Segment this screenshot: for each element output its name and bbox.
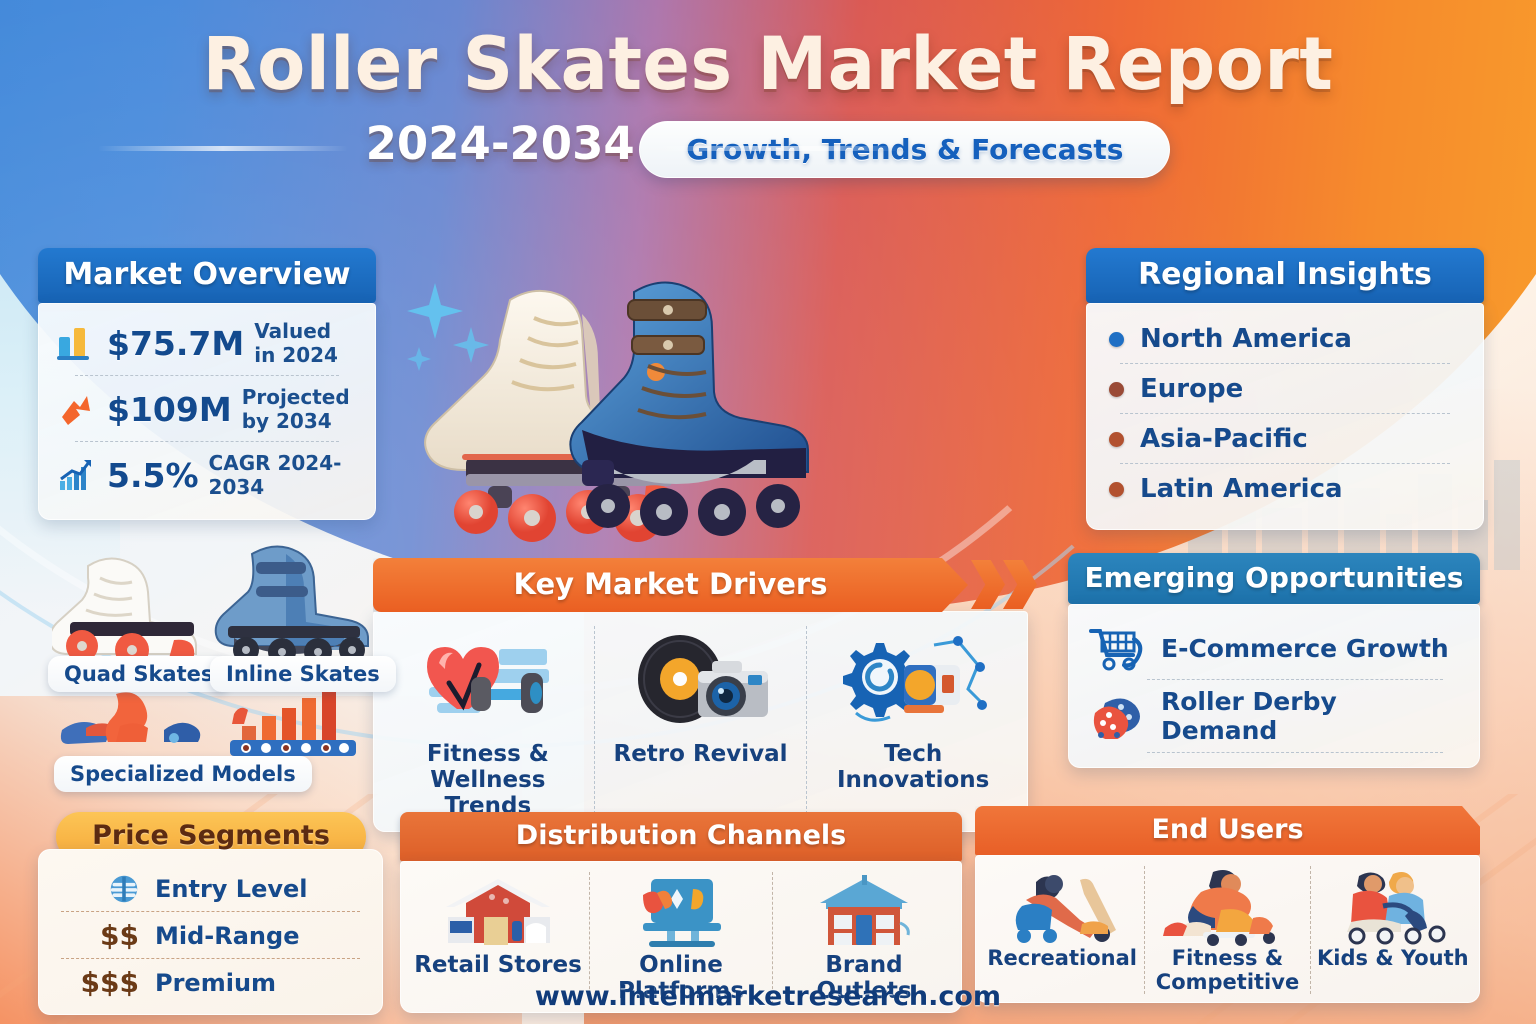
list-item[interactable]: Asia-Pacific [1109,414,1461,463]
specialized-chart-image [218,682,368,762]
growth-chart-icon [55,456,97,494]
bullet-dot-icon [1109,332,1124,347]
price-label: Mid-Range [155,922,299,950]
list-item[interactable]: North America [1109,314,1461,363]
product-chip-inline-skates[interactable]: Inline Skates [210,656,396,692]
market-overview-row: $75.7M Valued in 2024 [53,310,361,375]
market-value-2024-label: Valued in 2024 [254,319,359,367]
channel-label: Retail Stores [411,952,585,978]
bullet-dot-icon [1109,432,1124,447]
market-value-2034: $109M [107,390,232,429]
bullet-dot-icon [1109,482,1124,497]
region-label: Asia-Pacific [1140,424,1308,454]
distribution-channels-heading: Distribution Channels [400,812,962,861]
vinyl-camera-icon [601,626,801,736]
kids-skater-icon [1314,866,1472,946]
market-overview-card: Market Overview $75.7M Valued in 2024 $1… [38,248,376,520]
quad-skate-image [52,548,212,668]
page-title: Roller Skates Market Report [31,22,1506,107]
list-item[interactable]: Entry Level [55,868,366,908]
end-users-heading: End Users [975,806,1480,855]
driver-label: Fitness & Wellness Trends [388,742,588,819]
year-rule-left [98,146,348,151]
driver-item-fitness[interactable]: Fitness & Wellness Trends [382,626,594,819]
specialized-models-image [58,686,208,758]
divider [61,911,360,912]
market-overview-body: $75.7M Valued in 2024 $109M Projected by… [38,303,376,520]
key-drivers-body: Fitness & Wellness Trends [373,611,1028,832]
list-item[interactable]: Latin America [1109,464,1461,513]
list-item[interactable]: Roller Derby Demand [1089,680,1459,752]
bar-chart-icon [55,324,97,362]
storefront-icon [411,872,585,950]
driver-label: Retro Revival [601,742,801,768]
coin-icon [55,872,139,905]
title-years: 2024-2034 [366,117,635,170]
key-drivers-header-wrap: Key Market Drivers [373,558,1028,611]
inline-skate-image [212,540,380,668]
region-label: North America [1140,324,1352,354]
list-item[interactable]: Europe [1109,364,1461,413]
market-cagr: 5.5% [107,456,199,495]
divider [61,958,360,959]
regional-insights-body: North America Europe Asia-Pacific Latin … [1086,303,1484,530]
key-market-drivers-card: Key Market Drivers Fitness & Wellness T [373,558,1028,832]
chevron-right-icon [971,560,1005,609]
driver-label: Tech Innovations [813,742,1013,794]
driver-item-tech[interactable]: Tech Innovations [806,626,1019,819]
driver-item-retro[interactable]: Retro Revival [594,626,807,819]
footer-url[interactable]: www.intelmarketresearch.com [0,981,1536,1012]
divider [1147,752,1443,753]
product-chip-specialized-models[interactable]: Specialized Models [54,756,312,792]
up-arrow-icon [55,390,97,428]
region-label: Latin America [1140,474,1343,504]
end-user-item-kids[interactable]: Kids & Youth [1310,866,1475,994]
bullet-dot-icon [1109,382,1124,397]
recreational-skater-icon [983,866,1141,946]
market-value-2024: $75.7M [107,324,244,363]
end-user-label: Kids & Youth [1314,946,1472,970]
end-user-item-recreational[interactable]: Recreational [980,866,1144,994]
end-user-item-competitive[interactable]: Fitness & Competitive [1144,866,1309,994]
end-user-label: Recreational [983,946,1141,970]
market-overview-row: 5.5% CAGR 2024-2034 [53,442,361,507]
end-users-card: End Users Recreational [975,806,1480,1003]
emerging-opportunities-heading: Emerging Opportunities [1068,553,1480,604]
emerging-opportunities-card: Emerging Opportunities E-Commerce Growth [1068,553,1480,768]
market-overview-heading: Market Overview [38,248,376,303]
year-rule-right [653,146,903,151]
market-value-2034-label: Projected by 2034 [242,385,359,433]
market-cagr-label: CAGR 2024-2034 [209,451,359,499]
regional-insights-card: Regional Insights North America Europe A… [1086,248,1484,530]
opportunity-label: Roller Derby Demand [1161,687,1459,745]
derby-helmet-icon [1089,692,1143,740]
product-chip-quad-skates[interactable]: Quad Skates [48,656,229,692]
price-symbol: $$ [55,919,139,952]
heart-dumbbell-icon [388,626,588,736]
key-market-drivers-heading: Key Market Drivers [373,558,968,612]
brand-outlet-icon [777,872,951,950]
regional-insights-heading: Regional Insights [1086,248,1484,303]
page-header: Roller Skates Market Report 2024-2034 Gr… [0,0,1536,178]
title-years-wrap: 2024-2034 [366,121,635,170]
list-item[interactable]: $$ Mid-Range [55,915,366,955]
shopping-cart-icon [1089,624,1143,672]
hero-skates-image [392,262,862,544]
competitive-skater-icon [1148,866,1306,946]
list-item[interactable]: E-Commerce Growth [1089,617,1459,679]
price-label: Entry Level [155,875,308,903]
online-shop-icon [594,872,768,950]
gear-circuit-icon [813,626,1013,736]
emerging-opportunities-body: E-Commerce Growth Roller Derby Demand [1068,604,1480,768]
opportunity-label: E-Commerce Growth [1161,634,1449,663]
region-label: Europe [1140,374,1243,404]
market-overview-row: $109M Projected by 2034 [53,376,361,441]
